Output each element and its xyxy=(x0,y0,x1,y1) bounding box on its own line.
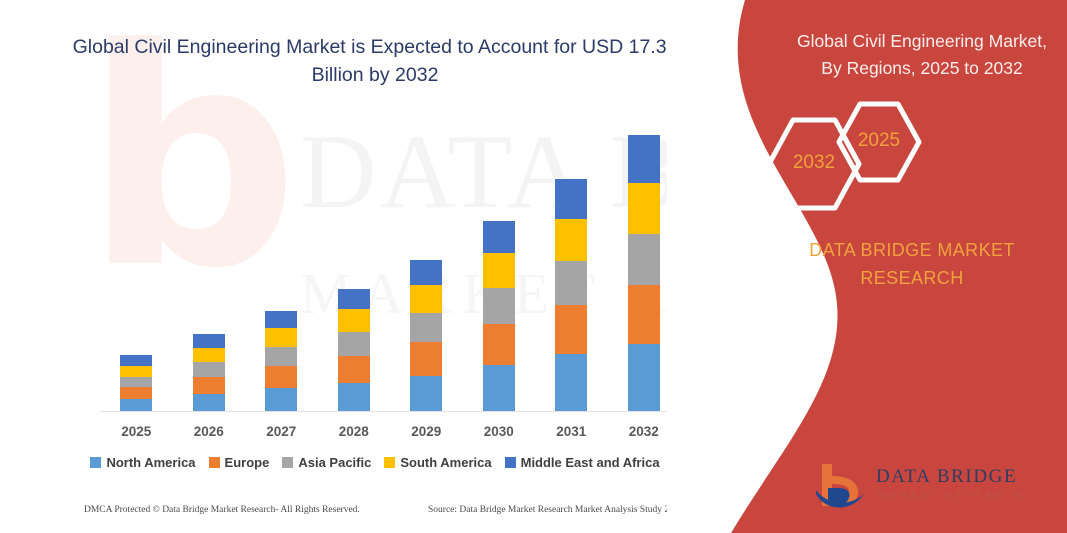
logo-subwordmark: MARKET RESEARCH xyxy=(878,490,1025,500)
chart-baseline xyxy=(100,411,680,412)
bar-2029 xyxy=(410,260,442,411)
bar-segment-middle-east-and-africa xyxy=(265,311,297,328)
bar-segment-middle-east-and-africa xyxy=(483,221,515,253)
bar-2025 xyxy=(120,355,152,411)
legend-item-asia-pacific[interactable]: Asia Pacific xyxy=(282,455,371,470)
bar-segment-middle-east-and-africa xyxy=(120,355,152,366)
bar-segment-middle-east-and-africa xyxy=(410,260,442,286)
legend-label: North America xyxy=(106,455,195,470)
legend-item-south-america[interactable]: South America xyxy=(384,455,491,470)
legend-label: South America xyxy=(400,455,491,470)
bar-segment-south-america xyxy=(410,285,442,313)
bar-2031 xyxy=(555,179,587,411)
bar-segment-north-america xyxy=(555,354,587,411)
x-axis-tick-2026: 2026 xyxy=(174,424,244,439)
bar-segment-asia-pacific xyxy=(265,347,297,366)
bar-segment-north-america xyxy=(410,376,442,411)
x-axis-tick-2025: 2025 xyxy=(101,424,171,439)
x-axis-tick-2029: 2029 xyxy=(391,424,461,439)
bar-segment-north-america xyxy=(193,394,225,411)
bar-2030 xyxy=(483,221,515,411)
bar-segment-north-america xyxy=(338,383,370,411)
legend-swatch-icon xyxy=(505,457,516,468)
hex-badge-group: 2032 2025 xyxy=(757,100,1057,210)
bar-segment-asia-pacific xyxy=(193,362,225,377)
logo-wordmark: DATA BRIDGE xyxy=(876,466,1017,488)
bar-2028 xyxy=(338,289,370,411)
bar-segment-asia-pacific xyxy=(483,288,515,325)
bar-2026 xyxy=(193,334,225,411)
data-bridge-logo: DATA BRIDGE MARKET RESEARCH xyxy=(812,458,1062,514)
bar-segment-north-america xyxy=(628,344,660,411)
infographic-root: b DATA BRIDGE MARKET RESEARCH Global Civ… xyxy=(0,0,1067,533)
bar-segment-south-america xyxy=(338,309,370,332)
bar-segment-europe xyxy=(410,342,442,375)
x-axis-tick-2027: 2027 xyxy=(246,424,316,439)
x-axis-labels: 20252026202720282029203020312032 xyxy=(100,424,680,444)
bar-segment-north-america xyxy=(483,365,515,411)
chart-plot-area xyxy=(100,120,680,412)
legend-label: Europe xyxy=(225,455,270,470)
legend-item-europe[interactable]: Europe xyxy=(209,455,270,470)
bar-segment-europe xyxy=(628,285,660,344)
legend-item-middle-east-and-africa[interactable]: Middle East and Africa xyxy=(505,455,660,470)
bar-segment-south-america xyxy=(628,183,660,233)
bar-segment-south-america xyxy=(265,328,297,346)
bar-segment-middle-east-and-africa xyxy=(338,289,370,309)
bar-segment-europe xyxy=(265,366,297,389)
legend-swatch-icon xyxy=(209,457,220,468)
bar-segment-europe xyxy=(338,356,370,383)
legend-label: Middle East and Africa xyxy=(521,455,660,470)
bar-segment-asia-pacific xyxy=(120,377,152,388)
bar-segment-europe xyxy=(120,387,152,399)
bar-segment-asia-pacific xyxy=(410,313,442,342)
bar-segment-asia-pacific xyxy=(555,261,587,305)
bar-2027 xyxy=(265,311,297,411)
footer-copyright: DMCA Protected © Data Bridge Market Rese… xyxy=(84,505,360,515)
legend-swatch-icon xyxy=(282,457,293,468)
footer: DMCA Protected © Data Bridge Market Rese… xyxy=(60,505,690,525)
bar-segment-middle-east-and-africa xyxy=(193,334,225,348)
legend-label: Asia Pacific xyxy=(298,455,371,470)
bar-segment-south-america xyxy=(193,348,225,362)
chart-legend: North AmericaEuropeAsia PacificSouth Ame… xyxy=(60,455,690,470)
x-axis-tick-2028: 2028 xyxy=(319,424,389,439)
bar-segment-asia-pacific xyxy=(628,234,660,286)
chart-title: Global Civil Engineering Market is Expec… xyxy=(60,33,690,89)
bar-segment-south-america xyxy=(555,219,587,261)
hex-badge-2025: 2025 xyxy=(835,100,923,184)
bar-segment-europe xyxy=(193,377,225,394)
right-red-panel: Global Civil Engineering Market, By Regi… xyxy=(667,0,1067,533)
bar-segment-north-america xyxy=(265,388,297,411)
panel-brand-name: DATA BRIDGE MARKET RESEARCH xyxy=(767,236,1057,292)
footer-source: Source: Data Bridge Market Research Mark… xyxy=(428,505,683,515)
legend-item-north-america[interactable]: North America xyxy=(90,455,195,470)
legend-swatch-icon xyxy=(90,457,101,468)
data-bridge-logo-mark xyxy=(812,460,868,512)
bar-segment-middle-east-and-africa xyxy=(628,135,660,183)
bar-segment-europe xyxy=(555,305,587,354)
legend-swatch-icon xyxy=(384,457,395,468)
bar-segment-south-america xyxy=(120,366,152,377)
bar-segment-asia-pacific xyxy=(338,332,370,357)
bar-segment-middle-east-and-africa xyxy=(555,179,587,219)
bar-segment-south-america xyxy=(483,253,515,287)
x-axis-tick-2031: 2031 xyxy=(536,424,606,439)
bar-segment-north-america xyxy=(120,399,152,411)
x-axis-tick-2030: 2030 xyxy=(464,424,534,439)
bar-2032 xyxy=(628,135,660,411)
bar-segment-europe xyxy=(483,324,515,365)
hex-badge-2025-label: 2025 xyxy=(835,130,923,152)
panel-title: Global Civil Engineering Market, By Regi… xyxy=(787,28,1057,82)
